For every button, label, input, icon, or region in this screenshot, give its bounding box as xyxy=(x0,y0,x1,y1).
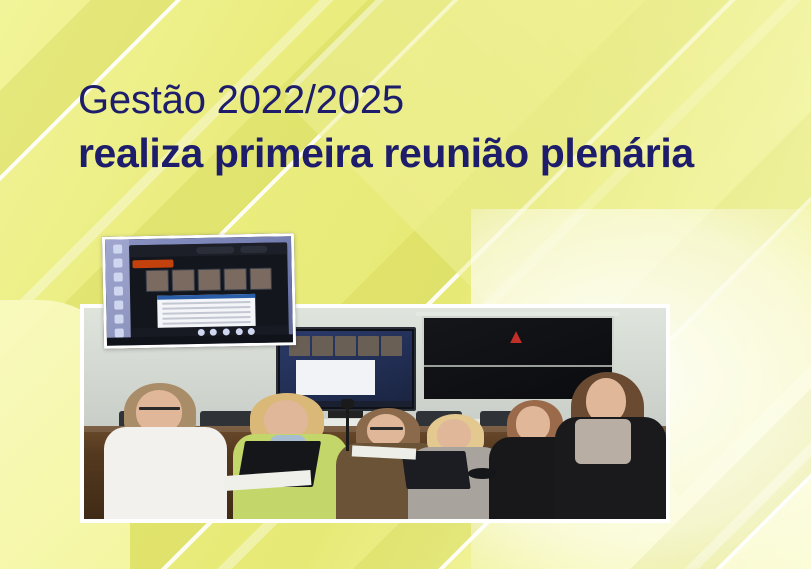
title-line-2: realiza primeira reunião plenária xyxy=(78,131,694,176)
inset-meeting-title-pill xyxy=(196,246,234,253)
inset-desktop-icons xyxy=(105,239,131,345)
inset-desktop xyxy=(105,236,293,346)
inset-recording-badge xyxy=(133,260,174,268)
person-left-1 xyxy=(101,376,229,519)
person-right-3 xyxy=(555,367,666,519)
conference-speaker-puck xyxy=(468,468,497,479)
videoconference-screenshot[interactable]: Captura de tela de videoconferência com … xyxy=(102,233,296,349)
banner-title: Gestão 2022/2025 realiza primeira reuniã… xyxy=(78,78,694,176)
window-logo-icon xyxy=(510,331,522,343)
inset-meeting-window xyxy=(129,243,289,339)
inset-video-tiles xyxy=(146,267,273,292)
tv-video-tiles xyxy=(289,336,402,356)
table-microphone xyxy=(346,405,349,451)
title-line-1: Gestão 2022/2025 xyxy=(78,78,694,122)
inset-meeting-action-pill xyxy=(240,246,267,253)
news-banner: Gestão 2022/2025 realiza primeira reuniã… xyxy=(0,0,811,569)
